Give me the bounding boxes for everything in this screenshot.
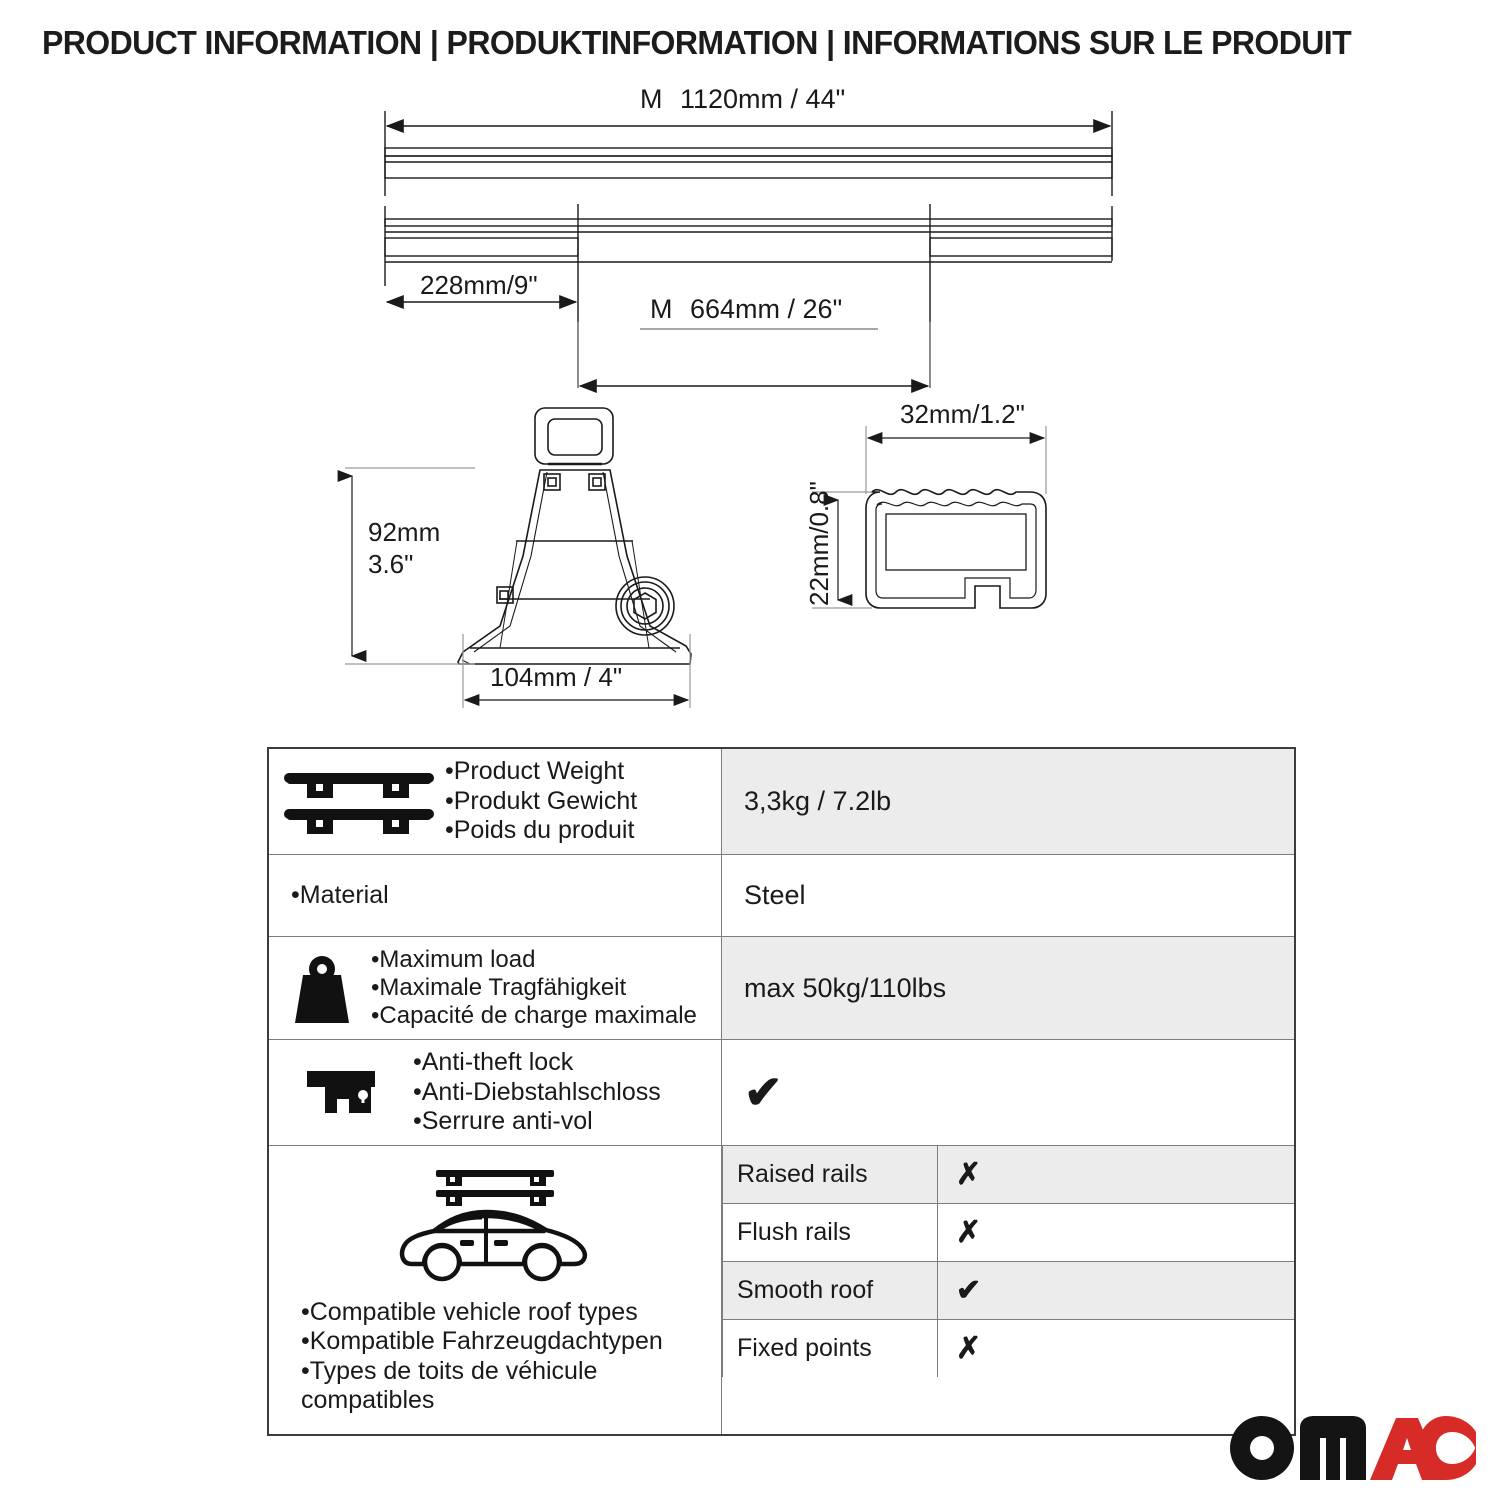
dim-profile-width: 32mm/1.2" <box>900 399 1025 429</box>
spec-label-cell: •Material <box>268 854 722 937</box>
page-header: PRODUCT INFORMATION | PRODUKTINFORMATION… <box>0 0 1500 86</box>
spec-label-text: •Product Weight •Produkt Gewicht •Poids … <box>445 757 637 846</box>
dim-foot-spacing-value: 664mm / 26" <box>690 294 842 324</box>
roof-type-mark: ✗ <box>938 1331 981 1366</box>
technical-drawings: M 1120mm / 44" 228mm/9" M 664mm / 26" <box>0 86 1500 736</box>
product-information-sheet: PRODUCT INFORMATION | PRODUKTINFORMATION… <box>0 0 1500 1500</box>
table-row: •Anti-theft lock •Anti-Diebstahlschloss … <box>268 1040 1295 1146</box>
roof-type-name: Flush rails <box>723 1203 938 1261</box>
roof-type-mark-cell: ✔ <box>938 1261 1295 1319</box>
dim-foot-height-line1: 92mm <box>368 517 440 547</box>
spec-label-cell: •Maximum load •Maximale Tragfähigkeit •C… <box>268 937 722 1040</box>
compat-value-cell: Raised rails ✗ Flush rails ✗ <box>722 1145 1296 1435</box>
roof-type-row: Fixed points ✗ <box>723 1319 1295 1377</box>
dim-foot-width: 104mm / 4" <box>490 662 622 692</box>
product-weight-value: 3,3kg / 7.2lb <box>722 786 1294 817</box>
roof-type-name: Fixed points <box>723 1319 938 1377</box>
table-row: •Material Steel <box>268 854 1295 937</box>
roof-type-row: Flush rails ✗ <box>723 1203 1295 1261</box>
material-value: Steel <box>722 880 1294 911</box>
compat-label-text: •Compatible vehicle roof types •Kompatib… <box>279 1298 663 1416</box>
spec-value-cell: max 50kg/110lbs <box>722 937 1296 1040</box>
dim-bar-length-prefix: M <box>640 86 663 114</box>
spec-value-cell: ✔ <box>722 1040 1296 1146</box>
dim-bar-length-value: 1120mm / 44" <box>680 86 845 114</box>
drawing-canvas: M 1120mm / 44" 228mm/9" M 664mm / 26" <box>0 86 1500 736</box>
anti-theft-lock-mark: ✔ <box>722 1069 1294 1115</box>
maximum-load-value: max 50kg/110lbs <box>722 973 1294 1004</box>
omac-logo <box>1228 1412 1478 1484</box>
lock-icon <box>287 1057 407 1127</box>
spec-label-text: •Maximum load •Maximale Tragfähigkeit •C… <box>371 946 697 1031</box>
roof-type-name: Smooth roof <box>723 1261 938 1319</box>
spec-label-cell: •Anti-theft lock •Anti-Diebstahlschloss … <box>268 1040 722 1146</box>
roof-type-sub-table: Raised rails ✗ Flush rails ✗ <box>722 1146 1294 1377</box>
dim-end-offset: 228mm/9" <box>420 270 538 300</box>
dim-foot-height-line2: 3.6" <box>368 549 413 579</box>
page-title: PRODUCT INFORMATION | PRODUKTINFORMATION… <box>42 24 1351 62</box>
specification-table: •Product Weight •Produkt Gewicht •Poids … <box>267 747 1296 1436</box>
weight-icon <box>279 945 365 1031</box>
spec-label-text: •Material <box>291 881 389 911</box>
roof-type-row: Smooth roof ✔ <box>723 1261 1295 1319</box>
table-row: •Product Weight •Produkt Gewicht •Poids … <box>268 748 1295 854</box>
table-row: •Maximum load •Maximale Tragfähigkeit •C… <box>268 937 1295 1040</box>
dim-profile-height: 22mm/0.8" <box>804 481 834 606</box>
crossbars-icon <box>279 761 439 841</box>
roof-type-row: Raised rails ✗ <box>723 1146 1295 1204</box>
omac-logo-mark <box>1228 1412 1478 1484</box>
roof-type-mark-cell: ✗ <box>938 1319 1295 1377</box>
roof-type-mark: ✗ <box>938 1215 981 1250</box>
roof-type-mark: ✗ <box>938 1157 981 1192</box>
table-row: •Compatible vehicle roof types •Kompatib… <box>268 1145 1295 1435</box>
spec-label-cell: •Product Weight •Produkt Gewicht •Poids … <box>268 748 722 854</box>
spec-value-cell: 3,3kg / 7.2lb <box>722 748 1296 854</box>
roof-type-mark-cell: ✗ <box>938 1203 1295 1261</box>
spec-label-text: •Anti-theft lock •Anti-Diebstahlschloss … <box>413 1048 661 1137</box>
spec-value-cell: Steel <box>722 854 1296 937</box>
car-with-roofrack-icon <box>390 1160 600 1288</box>
compat-label-cell: •Compatible vehicle roof types •Kompatib… <box>268 1145 722 1435</box>
roof-type-mark-cell: ✗ <box>938 1146 1295 1204</box>
dim-foot-spacing-prefix: M <box>650 294 673 324</box>
roof-type-mark: ✔ <box>938 1273 981 1308</box>
roof-type-name: Raised rails <box>723 1146 938 1204</box>
